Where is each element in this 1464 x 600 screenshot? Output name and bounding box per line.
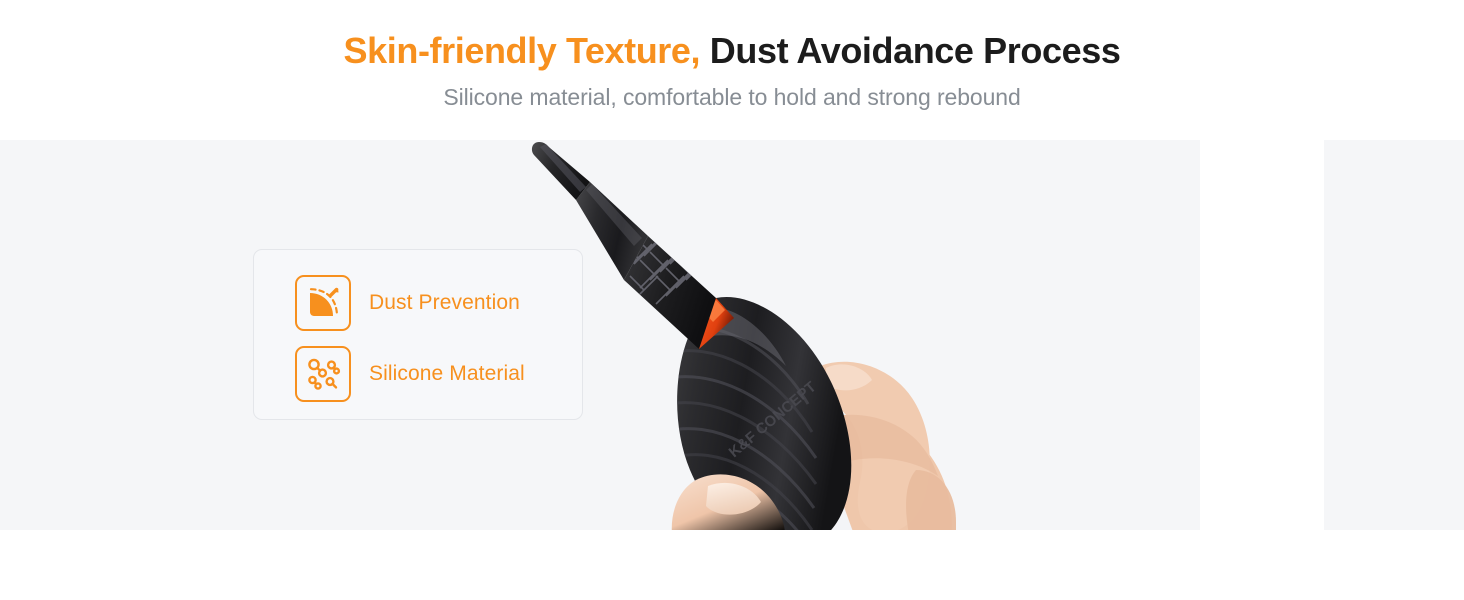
feature-row-silicone-material[interactable]: Silicone Material — [295, 343, 582, 405]
page-title: Skin-friendly Texture, Dust Avoidance Pr… — [0, 0, 1464, 74]
page-subtitle: Silicone material, comfortable to hold a… — [0, 74, 1464, 112]
headline-accent-text: Skin-friendly Texture, — [344, 30, 701, 71]
product-feature-banner: Skin-friendly Texture, Dust Avoidance Pr… — [0, 0, 1464, 600]
silicone-material-icon — [295, 346, 351, 402]
hero-panel-right — [1324, 140, 1464, 530]
feature-label-silicone-material: Silicone Material — [369, 362, 525, 386]
feature-row-dust-prevention[interactable]: Dust Prevention — [295, 272, 582, 334]
hero-panel-main — [0, 140, 1200, 530]
feature-card: Dust Prevention — [253, 249, 583, 420]
feature-label-dust-prevention: Dust Prevention — [369, 291, 520, 315]
dust-prevention-icon — [295, 275, 351, 331]
headline-plain-text: Dust Avoidance Process — [710, 30, 1121, 71]
header: Skin-friendly Texture, Dust Avoidance Pr… — [0, 0, 1464, 140]
